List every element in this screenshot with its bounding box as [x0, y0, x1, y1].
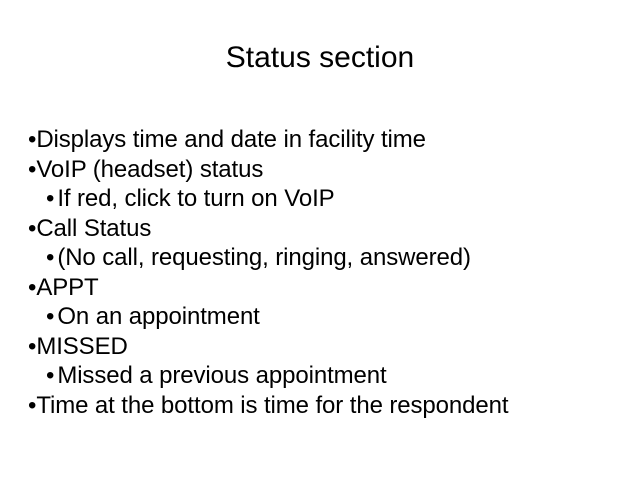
list-item: •If red, click to turn on VoIP: [46, 184, 632, 214]
list-item-label: (No call, requesting, ringing, answered): [57, 244, 471, 271]
list-item: •Missed a previous appointment: [46, 361, 632, 391]
bullet-icon: •: [46, 302, 54, 332]
bullet-icon: •: [46, 184, 54, 214]
list-item: •Time at the bottom is time for the resp…: [28, 391, 632, 421]
list-item-label: If red, click to turn on VoIP: [57, 185, 334, 212]
list-item-label: MISSED: [36, 333, 127, 360]
list-item: •VoIP (headset) status: [28, 155, 632, 185]
list-item: •(No call, requesting, ringing, answered…: [46, 243, 632, 273]
list-item: •Displays time and date in facility time: [28, 125, 632, 155]
list-item-label: Missed a previous appointment: [57, 362, 386, 389]
list-item-label: Call Status: [36, 215, 151, 242]
list-item-label: Time at the bottom is time for the respo…: [36, 392, 508, 419]
bullet-icon: •: [46, 243, 54, 273]
bullet-icon: •: [46, 361, 54, 391]
list-item: •MISSED: [28, 332, 632, 362]
list-item: •APPT: [28, 273, 632, 303]
list-item-label: APPT: [36, 274, 98, 301]
slide-canvas: Status section •Displays time and date i…: [0, 0, 640, 480]
list-item: •On an appointment: [46, 302, 632, 332]
bullet-list: •Displays time and date in facility time…: [28, 125, 632, 420]
list-item-label: On an appointment: [57, 303, 259, 330]
list-item-label: Displays time and date in facility time: [36, 126, 426, 153]
list-item: •Call Status: [28, 214, 632, 244]
page-title: Status section: [0, 40, 640, 76]
list-item-label: VoIP (headset) status: [36, 156, 263, 183]
